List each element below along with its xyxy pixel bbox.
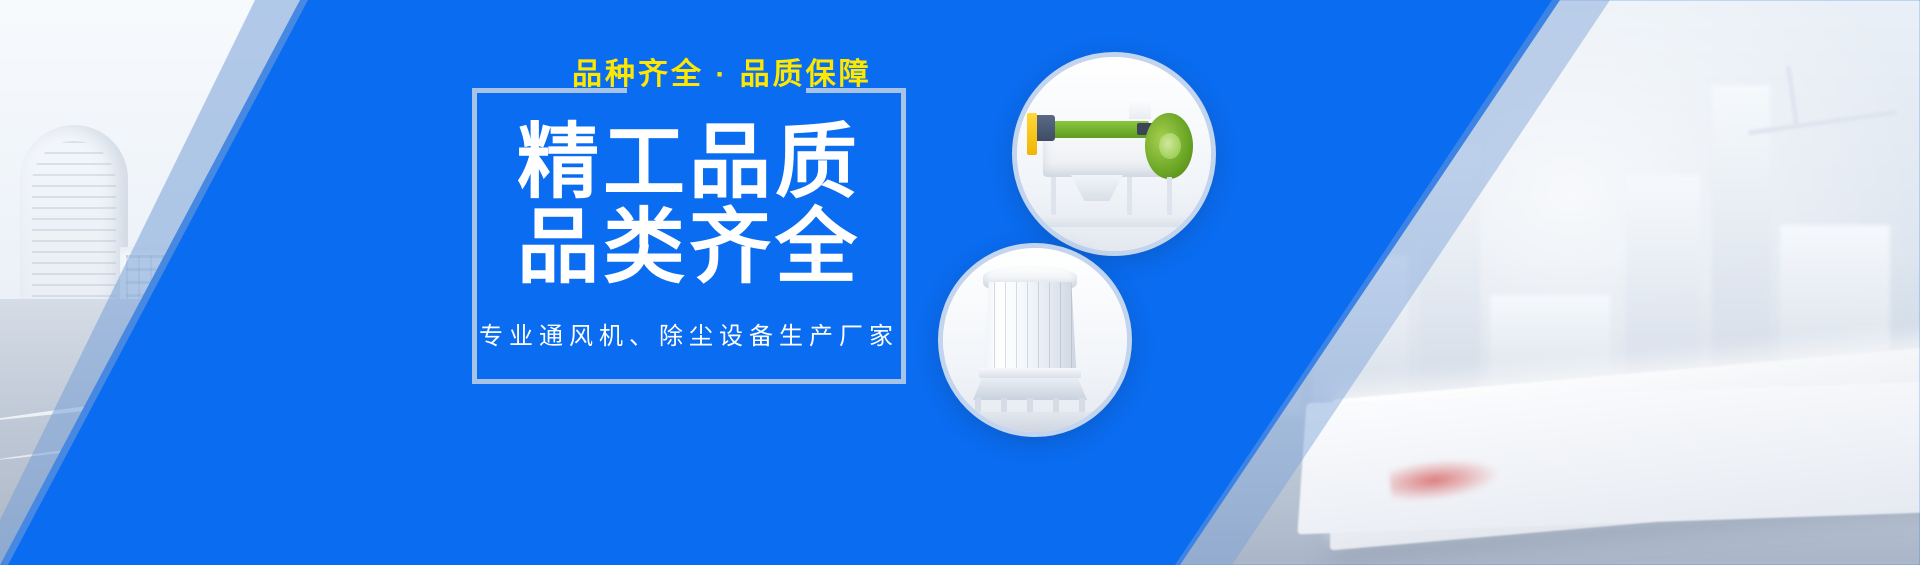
headline-line-1: 精工品质 xyxy=(517,117,861,208)
machine-yellow-guard xyxy=(1027,113,1037,155)
promotional-banner: 品种齐全 · 品质保障 精工品质 品类齐全 专业通风机、除尘设备生产厂家 xyxy=(0,0,1920,565)
machine-green-drum xyxy=(1145,113,1193,179)
cooling-tower-base-skirt xyxy=(973,378,1087,400)
machine-leg xyxy=(1167,177,1172,219)
product-image-dust-collector xyxy=(1012,52,1216,256)
banner-headline: 精工品质 品类齐全 xyxy=(472,120,906,291)
machine-floor xyxy=(1025,215,1201,227)
machine-leg xyxy=(1051,177,1056,219)
cooling-tower-floor xyxy=(943,412,1127,432)
product-photo-backdrop xyxy=(943,248,1127,432)
machine-green-band xyxy=(1051,121,1149,138)
machine-hopper xyxy=(1071,175,1123,201)
banner-subtitle: 专业通风机、除尘设备生产厂家 xyxy=(472,325,906,349)
product-photo-backdrop xyxy=(1017,57,1211,251)
machine-chimney xyxy=(1129,101,1151,121)
headline-line-2: 品类齐全 xyxy=(472,205,906,290)
banner-tagline: 品种齐全 · 品质保障 xyxy=(572,60,912,90)
product-image-cooling-tower xyxy=(938,243,1132,437)
machine-leg xyxy=(1127,177,1132,219)
banner-text-block: 品种齐全 · 品质保障 精工品质 品类齐全 专业通风机、除尘设备生产厂家 xyxy=(472,60,906,349)
cooling-tower-band xyxy=(979,368,1081,378)
